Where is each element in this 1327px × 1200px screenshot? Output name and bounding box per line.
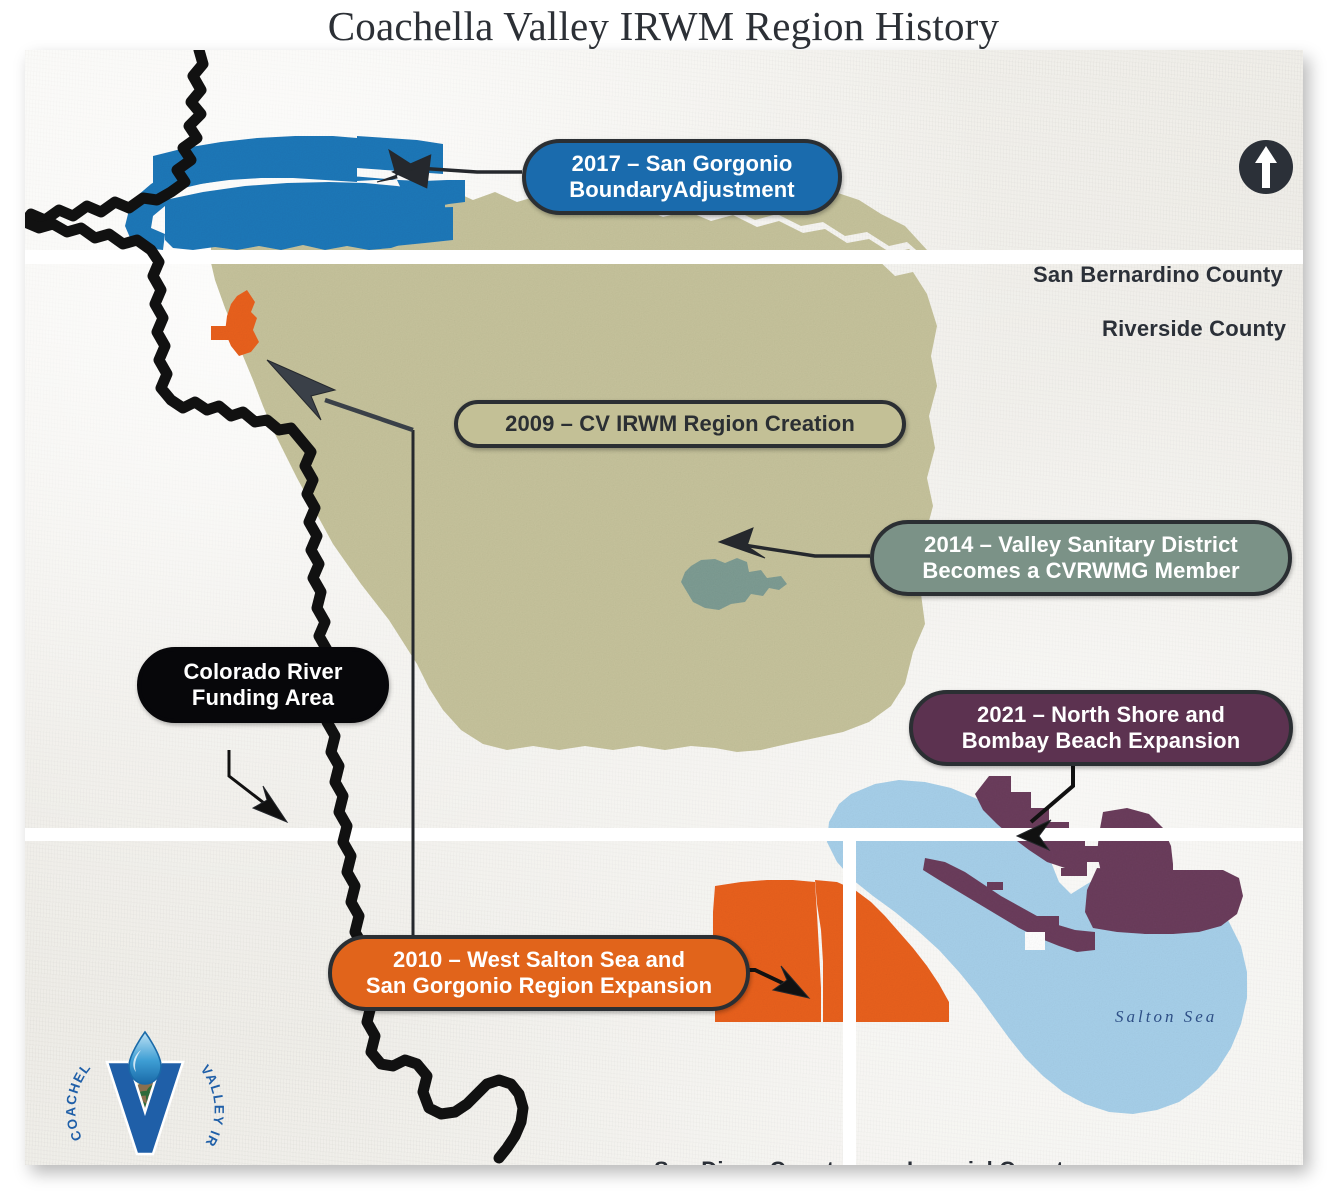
- callout-colorado-river-funding-area[interactable]: Colorado River Funding Area: [137, 647, 389, 723]
- coachella-valley-irwmp-logo[interactable]: COACHELLA VALLEY IRWMP: [65, 1018, 225, 1165]
- callout-2017-san-gorgonio-boundary-adjustment[interactable]: 2017 – San Gorgonio BoundaryAdjustment: [522, 139, 842, 215]
- page-title: Coachella Valley IRWM Region History: [0, 2, 1327, 50]
- county-label-imperial: Imperial County: [907, 1157, 1076, 1165]
- logo-water-droplet-icon: [129, 1032, 161, 1084]
- county-label-san-bernardino: San Bernardino County: [1033, 262, 1283, 288]
- north-arrow-icon: [1237, 138, 1295, 196]
- callout-2009-cv-irwm-region-creation[interactable]: 2009 – CV IRWM Region Creation: [454, 400, 906, 448]
- water-label-salton-sea: Salton Sea: [1115, 1007, 1217, 1027]
- callout-2010-west-salton-sea-san-gorgonio[interactable]: 2010 – West Salton Sea and San Gorgonio …: [328, 935, 750, 1011]
- callout-2014-valley-sanitary-district[interactable]: 2014 – Valley Sanitary District Becomes …: [870, 520, 1292, 596]
- county-label-san-diego: San Diego County: [654, 1157, 847, 1165]
- page-root: Coachella Valley IRWM Region History: [0, 0, 1327, 1200]
- map-frame[interactable]: San Bernardino County Riverside County S…: [25, 50, 1303, 1165]
- county-label-riverside: Riverside County: [1102, 316, 1286, 342]
- logo-text-left: COACHELLA: [65, 1018, 94, 1143]
- callout-2021-north-shore-bombay-beach[interactable]: 2021 – North Shore and Bombay Beach Expa…: [909, 690, 1293, 766]
- region-polygon-2010-san-gorgonio-patch[interactable]: [211, 290, 259, 356]
